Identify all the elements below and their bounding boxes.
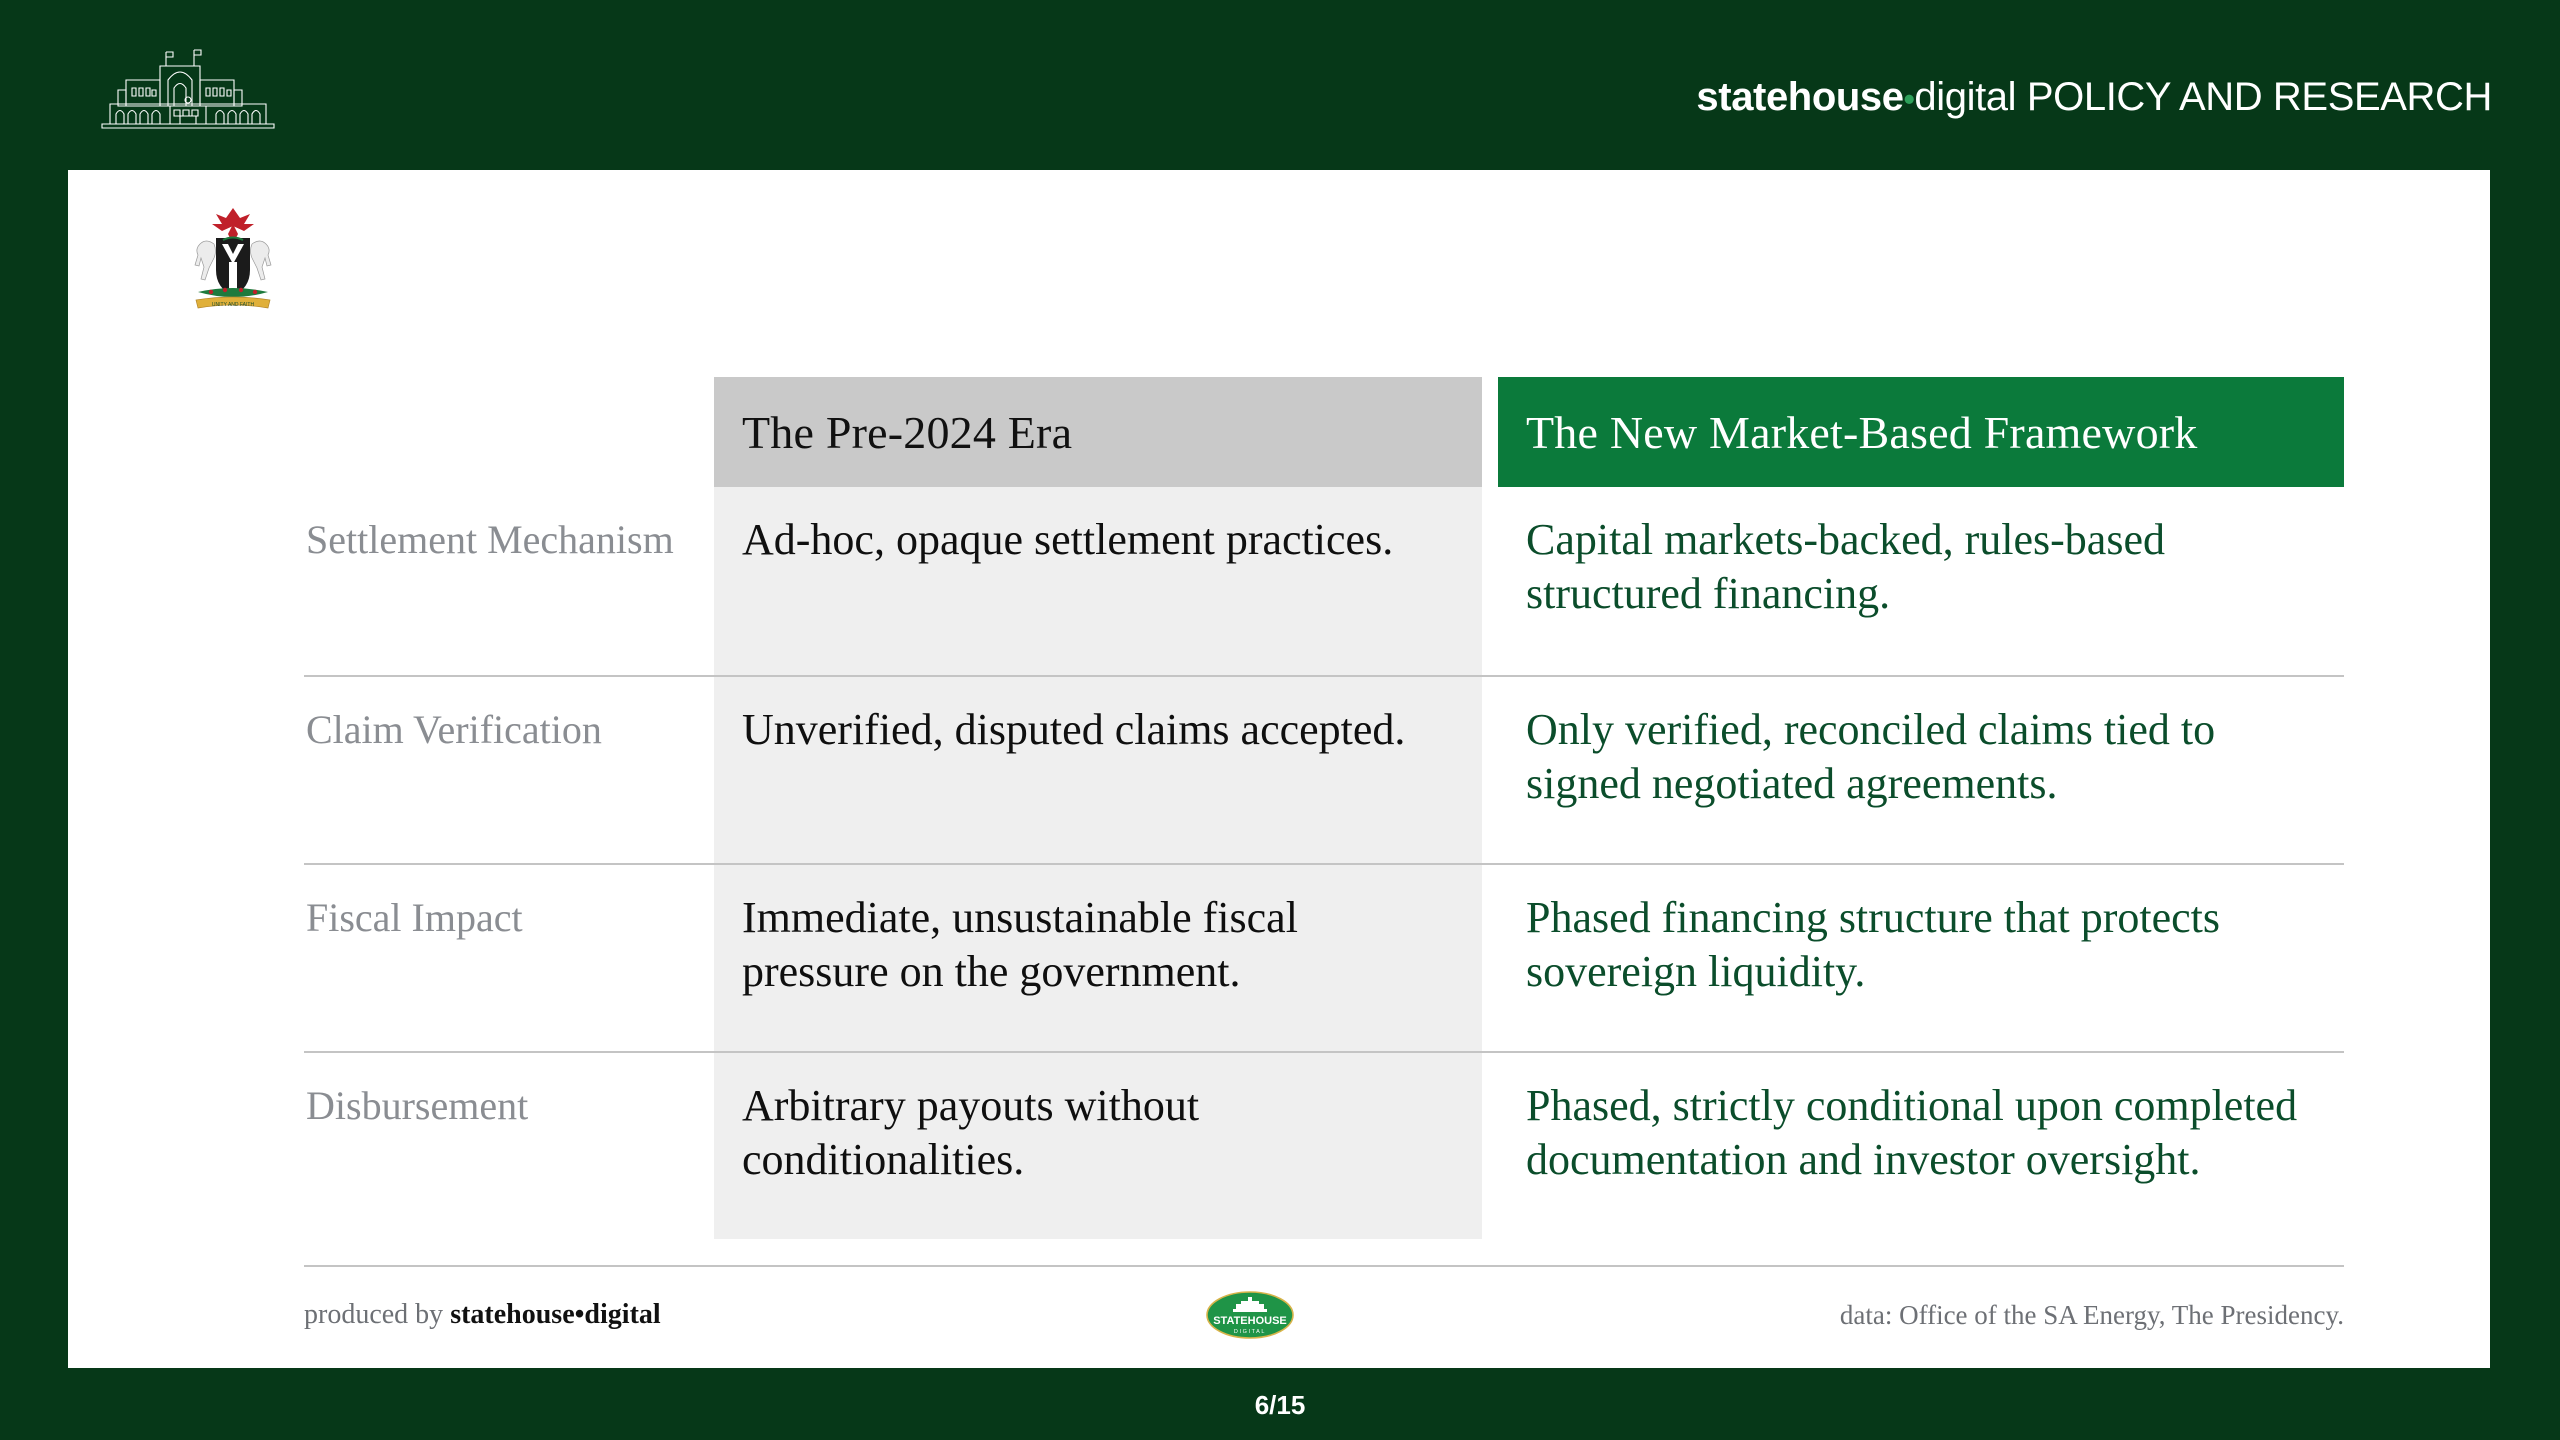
row-new-value: Phased financing structure that protects… — [1498, 865, 2344, 1051]
column-gap — [1482, 865, 1498, 1051]
column-gap — [1482, 677, 1498, 863]
row-label: Fiscal Impact — [304, 865, 714, 1051]
row-label: Settlement Mechanism — [304, 487, 714, 675]
row-old-value: Immediate, unsustainable fiscal pressure… — [714, 865, 1482, 1051]
slide-card: UNITY AND FAITH The Pre-2024 Era The New… — [68, 170, 2490, 1368]
brand-digital: digital — [1914, 75, 2016, 119]
produced-by-credit: produced by statehouse•digital — [304, 1299, 661, 1331]
row-label: Disbursement — [304, 1053, 714, 1239]
row-new-value: Only verified, reconciled claims tied to… — [1498, 677, 2344, 863]
row-old-value: Unverified, disputed claims accepted. — [714, 677, 1482, 863]
row-old-value: Arbitrary payouts without conditionaliti… — [714, 1053, 1482, 1239]
svg-text:STATEHOUSE: STATEHOUSE — [1213, 1315, 1287, 1327]
column-header-pre-2024: The Pre-2024 Era — [714, 377, 1482, 487]
brand-title: statehouse•digital POLICY AND RESEARCH — [1696, 75, 2492, 120]
statehouse-digital-oval-logo-icon: STATEHOUSE DIGITAL — [1205, 1290, 1295, 1340]
footer-divider — [304, 1265, 2344, 1267]
nigeria-coat-of-arms-icon: UNITY AND FAITH — [178, 200, 288, 318]
row-new-value: Phased, strictly conditional upon comple… — [1498, 1053, 2344, 1239]
statehouse-building-sketch-icon — [88, 40, 288, 135]
card-footer: produced by statehouse•digital STATEHOUS… — [304, 1280, 2344, 1350]
table-row: Disbursement Arbitrary payouts without c… — [304, 1051, 2344, 1239]
row-old-value: Ad-hoc, opaque settlement practices. — [714, 487, 1482, 675]
table-header-label-spacer — [304, 377, 714, 487]
data-source-credit: data: Office of the SA Energy, The Presi… — [1840, 1300, 2344, 1331]
column-gap — [1482, 487, 1498, 675]
page-number: 6/15 — [0, 1390, 2560, 1421]
slide: statehouse•digital POLICY AND RESEARCH — [0, 0, 2560, 1440]
column-header-new-framework: The New Market-Based Framework — [1498, 377, 2344, 487]
table-header-row: The Pre-2024 Era The New Market-Based Fr… — [304, 377, 2344, 487]
produced-by-prefix: produced by — [304, 1299, 450, 1330]
column-gap — [1482, 377, 1498, 487]
table-row: Fiscal Impact Immediate, unsustainable f… — [304, 863, 2344, 1051]
column-gap — [1482, 1053, 1498, 1239]
brand-dot-icon: • — [1904, 81, 1915, 117]
brand-section-label: POLICY AND RESEARCH — [2027, 75, 2492, 119]
brand-statehouse: statehouse — [1696, 75, 1903, 119]
top-header-bar: statehouse•digital POLICY AND RESEARCH — [0, 0, 2560, 170]
svg-text:UNITY AND FAITH: UNITY AND FAITH — [212, 302, 255, 308]
produced-by-brand: statehouse•digital — [450, 1299, 660, 1330]
row-new-value: Capital markets-backed, rules-based stru… — [1498, 487, 2344, 675]
table-row: Settlement Mechanism Ad-hoc, opaque sett… — [304, 487, 2344, 675]
table-row: Claim Verification Unverified, disputed … — [304, 675, 2344, 863]
comparison-table: The Pre-2024 Era The New Market-Based Fr… — [304, 377, 2344, 1239]
row-label: Claim Verification — [304, 677, 714, 863]
svg-text:DIGITAL: DIGITAL — [1234, 1329, 1266, 1335]
